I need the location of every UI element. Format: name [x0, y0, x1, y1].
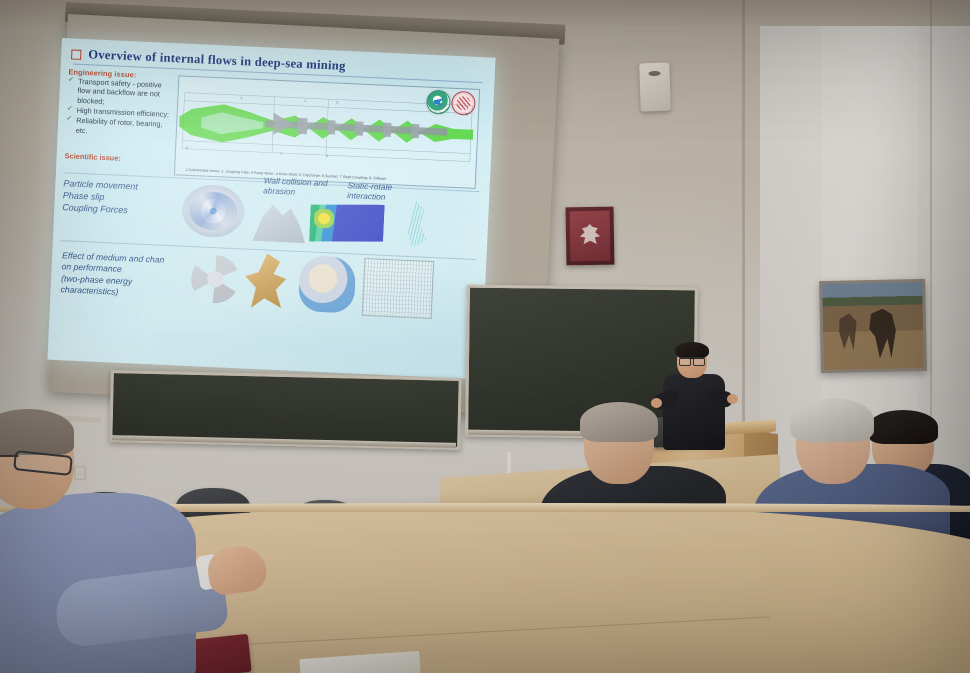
- photo-image: [822, 282, 924, 370]
- svg-text:1: 1: [240, 96, 242, 100]
- svg-text:3: 3: [336, 101, 338, 105]
- square-bullet-icon: [71, 49, 81, 59]
- eyeglasses-icon: [679, 357, 705, 364]
- svg-text:2: 2: [304, 99, 306, 103]
- presentation-slide: Overview of internal flows in deep-sea m…: [47, 38, 495, 379]
- svg-text:4: 4: [446, 108, 448, 112]
- presenter-hand: [727, 394, 738, 404]
- abrasion-surface-image: [249, 197, 307, 243]
- clasped-hands: [205, 543, 269, 597]
- blue-impeller-image: [298, 255, 356, 313]
- svg-text:5: 5: [466, 112, 468, 116]
- check-icon: ✓: [66, 116, 74, 135]
- wall-collision-caption: Wall collision and abrasion: [263, 176, 340, 199]
- list-item-label: Reliability of rotor, bearing, etc.: [76, 116, 171, 139]
- list-item: ✓ Reliability of rotor, bearing, etc.: [66, 116, 171, 139]
- mesh-grid-image: [362, 258, 435, 319]
- engineering-bullet-list: ✓ Transport safety - positive flow and b…: [66, 76, 173, 140]
- check-icon: ✓: [67, 76, 75, 104]
- attendee-hair: [790, 398, 874, 442]
- pump-schematic-figure: 123 45 678 1.Submersible Motor; 2. Coupl…: [174, 75, 480, 189]
- speaker-tweeter: [648, 71, 660, 76]
- gold-vane-image: [242, 252, 294, 310]
- contour-plot-image: [309, 201, 385, 244]
- polish-eagle-emblem: [565, 207, 614, 266]
- attendee-hair: [0, 409, 74, 455]
- medium-effect-block: Effect of medium and chan on performance…: [60, 250, 182, 301]
- static-rotate-caption: Static-rotate interaction: [347, 181, 418, 204]
- attendee-hair: [580, 402, 658, 442]
- pump-flow-diagram: 123 45 678: [176, 86, 479, 168]
- speaker-cone: [645, 79, 666, 100]
- list-item: ✓ Transport safety - positive flow and b…: [67, 76, 172, 109]
- ceiling-loudspeaker-icon: [639, 62, 671, 111]
- scientific-issue-list: Particle movement Phase slip Coupling Fo…: [62, 178, 176, 219]
- check-icon: ✓: [67, 105, 74, 115]
- svg-text:7: 7: [280, 152, 282, 156]
- impeller-fan-image: [190, 254, 240, 304]
- list-item-label: Transport safety - positive flow and bac…: [77, 77, 172, 109]
- horse-icon: [867, 308, 904, 359]
- scientific-issue-heading: Scientific issue:: [64, 151, 121, 163]
- framed-horse-photograph: [819, 279, 927, 373]
- particle-swirl-image: [181, 184, 245, 239]
- vortex-streamline-image: [393, 199, 443, 249]
- horse-icon: [837, 312, 864, 350]
- lecture-room-photo: Overview of internal flows in deep-sea m…: [0, 0, 970, 673]
- svg-text:6: 6: [186, 146, 188, 150]
- svg-text:8: 8: [326, 154, 328, 158]
- foreground-attendee: [0, 405, 270, 673]
